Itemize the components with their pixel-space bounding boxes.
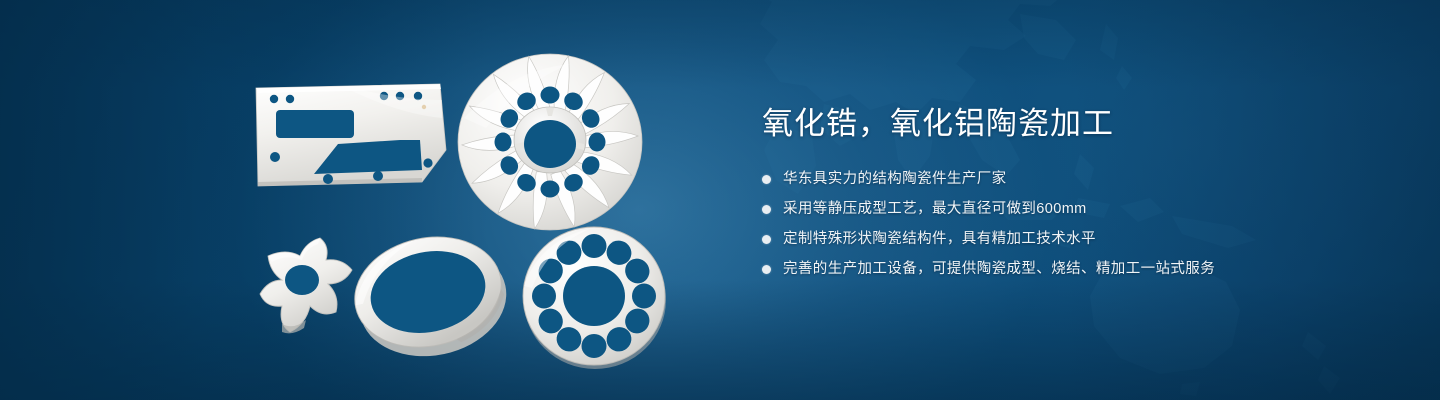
bullet-dot-icon	[762, 265, 771, 274]
list-item: 采用等静压成型工艺，最大直径可做到600mm	[762, 198, 1382, 220]
list-item: 华东具实力的结构陶瓷件生产厂家	[762, 168, 1382, 190]
list-item: 完善的生产加工设备，可提供陶瓷成型、烧结、精加工一站式服务	[762, 258, 1382, 280]
feature-list: 华东具实力的结构陶瓷件生产厂家 采用等静压成型工艺，最大直径可做到600mm 定…	[762, 168, 1382, 280]
list-item-label: 华东具实力的结构陶瓷件生产厂家	[783, 168, 1007, 190]
page-title: 氧化锆，氧化铝陶瓷加工	[762, 104, 1382, 144]
bullet-dot-icon	[762, 235, 771, 244]
list-item-label: 采用等静压成型工艺，最大直径可做到600mm	[783, 198, 1087, 220]
banner-copy: 氧化锆，氧化铝陶瓷加工 华东具实力的结构陶瓷件生产厂家 采用等静压成型工艺，最大…	[762, 104, 1382, 288]
list-item: 定制特殊形状陶瓷结构件，具有精加工技术水平	[762, 228, 1382, 250]
bullet-dot-icon	[762, 175, 771, 184]
hero-banner: 氧化锆，氧化铝陶瓷加工 华东具实力的结构陶瓷件生产厂家 采用等静压成型工艺，最大…	[0, 0, 1440, 400]
list-item-label: 定制特殊形状陶瓷结构件，具有精加工技术水平	[783, 228, 1096, 250]
list-item-label: 完善的生产加工设备，可提供陶瓷成型、烧结、精加工一站式服务	[783, 258, 1215, 280]
bullet-dot-icon	[762, 205, 771, 214]
